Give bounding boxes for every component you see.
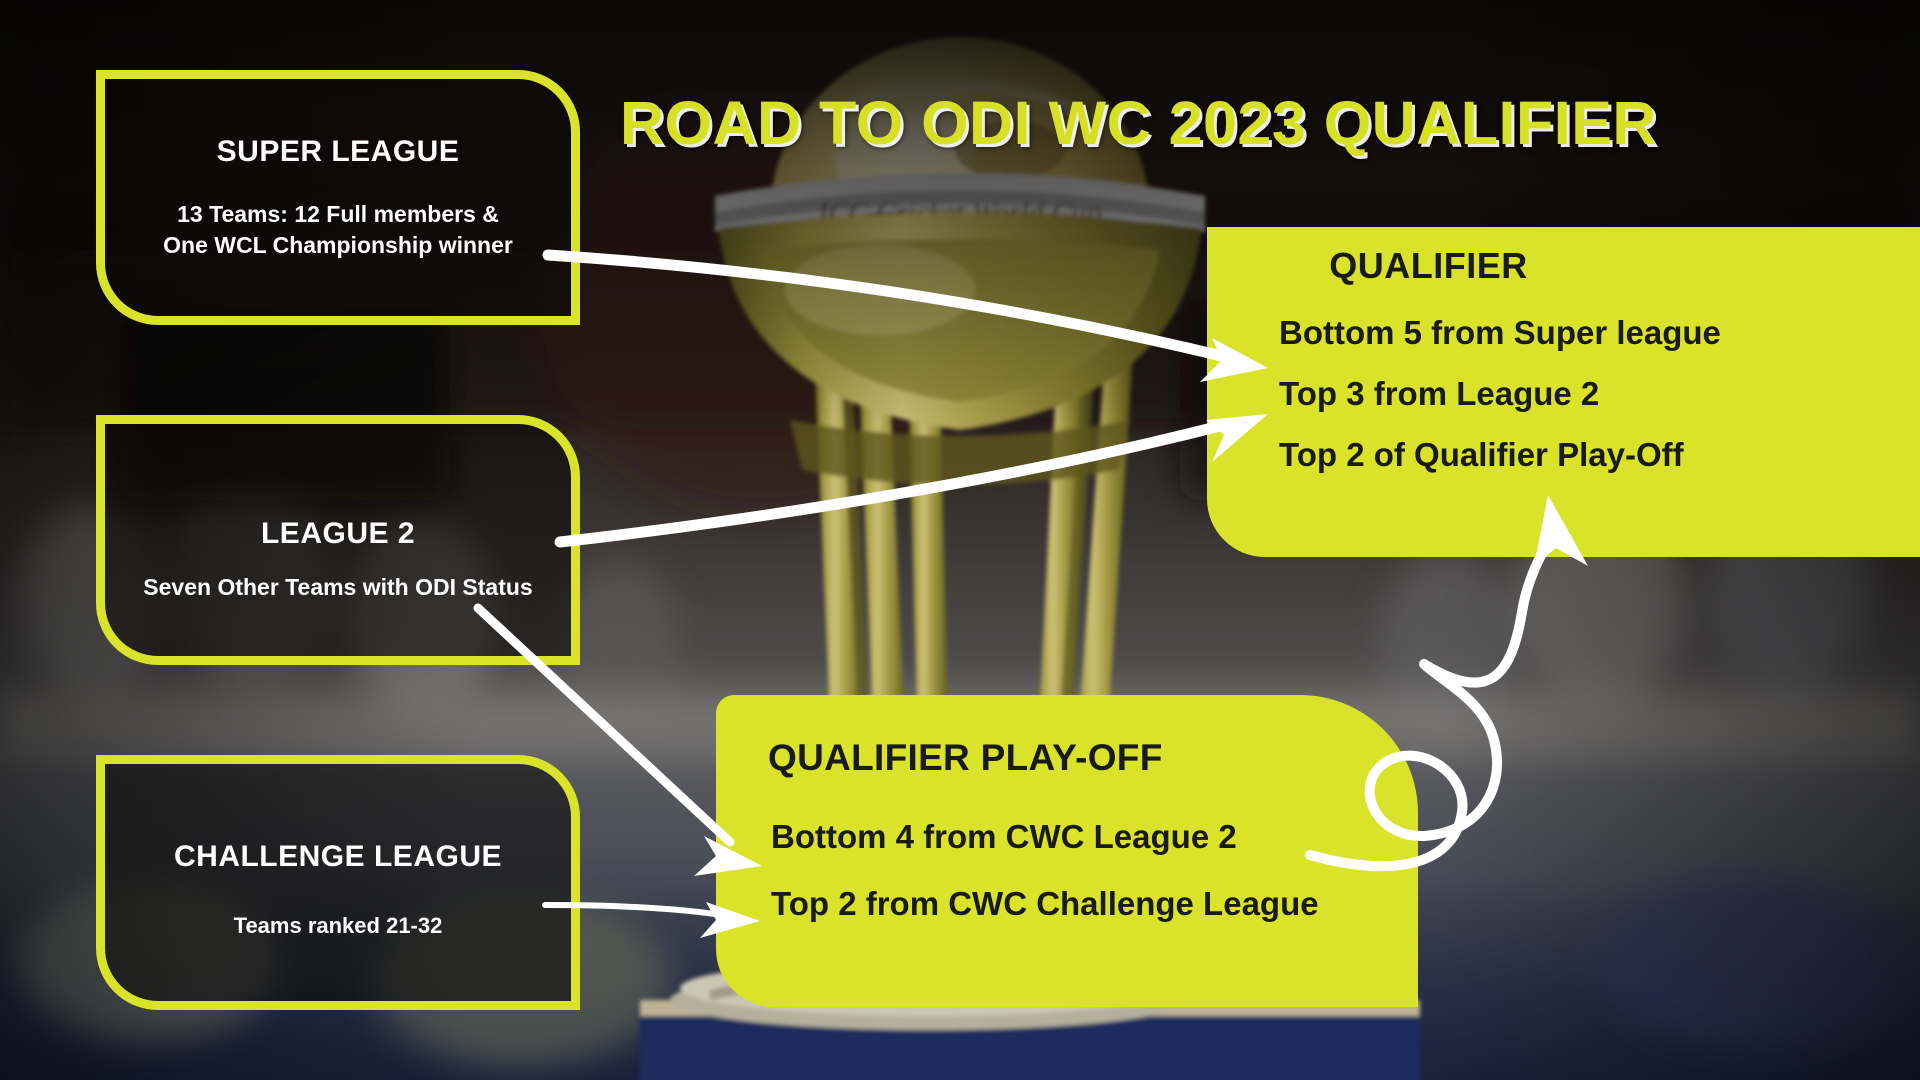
card-challenge-league[interactable]: CHALLENGE LEAGUE Teams ranked 21-32 (96, 755, 580, 1010)
qualifier-line-1: Top 3 from League 2 (1279, 375, 1599, 413)
panel-qualifier[interactable]: QUALIFIER Bottom 5 from Super league Top… (1207, 227, 1920, 557)
page-title: ROAD TO ODI WC 2023 QUALIFIER (620, 88, 1780, 158)
card-league-2-subtitle: Seven Other Teams with ODI Status (105, 572, 571, 603)
infographic-root: ICC Cricket World Cup ROAD TO ODI WC 202… (0, 0, 1920, 1080)
panel-qualifier-play-off[interactable]: QUALIFIER PLAY-OFF Bottom 4 from CWC Lea… (716, 695, 1418, 1007)
card-super-league[interactable]: SUPER LEAGUE 13 Teams: 12 Full members &… (96, 70, 580, 325)
card-league-2-heading: LEAGUE 2 (105, 517, 571, 551)
playoff-line-0: Bottom 4 from CWC League 2 (771, 818, 1237, 856)
playoff-line-1: Top 2 from CWC Challenge League (771, 885, 1319, 923)
card-super-league-subtitle: 13 Teams: 12 Full members & One WCL Cham… (105, 199, 571, 261)
qualifier-line-2: Top 2 of Qualifier Play-Off (1279, 436, 1684, 474)
card-league-2[interactable]: LEAGUE 2 Seven Other Teams with ODI Stat… (96, 415, 580, 665)
card-challenge-league-subtitle: Teams ranked 21-32 (105, 911, 571, 941)
card-super-league-heading: SUPER LEAGUE (105, 135, 571, 169)
card-challenge-league-heading: CHALLENGE LEAGUE (105, 840, 571, 874)
panel-playoff-heading: QUALIFIER PLAY-OFF (768, 737, 1163, 779)
qualifier-line-0: Bottom 5 from Super league (1279, 314, 1721, 352)
panel-qualifier-heading: QUALIFIER (1207, 245, 1650, 287)
